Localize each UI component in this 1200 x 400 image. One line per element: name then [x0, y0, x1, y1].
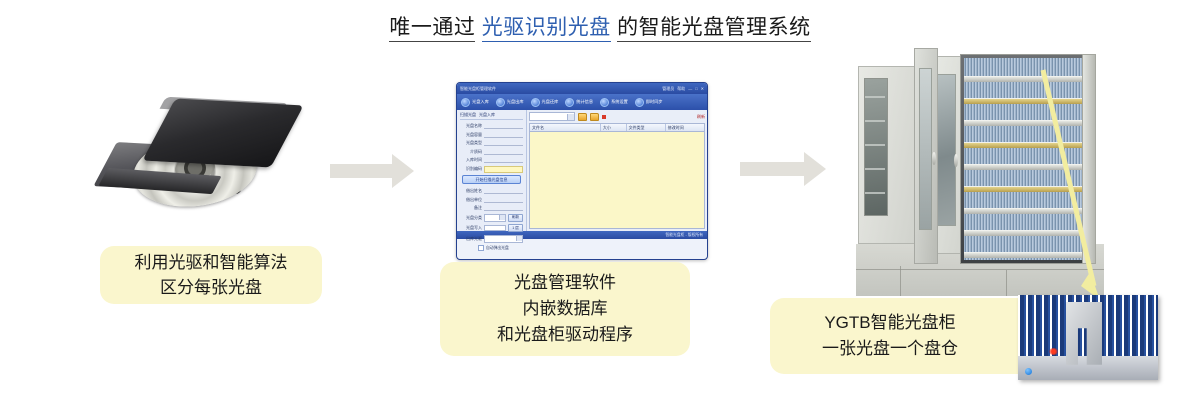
- disc-out-icon: [496, 98, 505, 107]
- caption-box-software: 光盘管理软件 内嵌数据库 和光盘柜驱动程序: [440, 262, 690, 356]
- field-input-borrower-org[interactable]: [484, 197, 523, 203]
- adjacent-shelf: [865, 192, 885, 194]
- content-panel: 刷新 文件名 大小 文件类型 修改时间: [527, 110, 707, 231]
- toolbar-label-disc-out: 光盘出库: [507, 99, 524, 105]
- field-input-remark[interactable]: [484, 205, 523, 211]
- field-label-borrower-org: 借出单位: [460, 197, 482, 203]
- window-body: 扫描光盘 光盘入库 光盘名称 光盘容量 光盘类型 介质码: [457, 110, 707, 231]
- arrow-head: [804, 152, 826, 186]
- floor-line-1: [856, 269, 1104, 270]
- field-input-borrower-name[interactable]: [484, 188, 523, 194]
- field-input-disc-name[interactable]: [484, 123, 523, 129]
- file-list-area[interactable]: [529, 131, 705, 229]
- write-progress-bar: [484, 225, 506, 231]
- toolbar-button-disc-return[interactable]: 光盘还库: [531, 98, 559, 107]
- floor-line-3: [1006, 270, 1007, 296]
- door-handle: [954, 154, 958, 167]
- field-label-media-code: 介质码: [460, 149, 482, 155]
- toolbar-label-stats: 统计信息: [576, 99, 593, 105]
- field-label-write-progress: 光盘写入: [460, 225, 482, 231]
- chevron-down-icon: [516, 236, 522, 241]
- tab-disc-in[interactable]: 光盘入库: [479, 112, 495, 118]
- field-recognition-code[interactable]: 识别编码: [460, 166, 523, 173]
- laser-dot-icon: [1049, 348, 1058, 355]
- disc-rack: [960, 54, 1090, 264]
- open-door-handle: [932, 152, 936, 165]
- left-panel-tabs[interactable]: 扫描光盘 光盘入库: [460, 112, 523, 120]
- caption-line: 区分每张光盘: [135, 275, 288, 300]
- field-remark[interactable]: 备注: [460, 205, 523, 211]
- field-label-disc-capacity: 光盘容量: [460, 132, 482, 138]
- window-title: 智能光盘柜管理软件: [460, 86, 496, 92]
- sync-icon: [635, 98, 644, 107]
- optical-drive-photo: [95, 100, 305, 220]
- field-label-disc-type: 光盘类型: [460, 140, 482, 146]
- field-label-disc-category: 光盘分类: [460, 215, 482, 221]
- adjacent-shelf: [865, 144, 885, 146]
- layer-stepper[interactable]: 1 层: [508, 224, 523, 232]
- adjacent-shelf: [865, 120, 885, 122]
- field-label-disc-name: 光盘名称: [460, 123, 482, 129]
- field-input-in-time[interactable]: [484, 157, 523, 163]
- drive-path-select[interactable]: [529, 112, 575, 121]
- field-input-media-code[interactable]: [484, 149, 523, 155]
- refresh-category-button[interactable]: 刷新: [508, 214, 523, 222]
- scan-disc-button-label: 开始扫描光盘信息: [476, 177, 508, 183]
- floor-line-2: [900, 266, 901, 296]
- page-title-accent: 光驱识别光盘: [482, 16, 611, 42]
- toolbar-button-stats[interactable]: 统计信息: [565, 98, 593, 107]
- left-panel: 扫描光盘 光盘入库 光盘名称 光盘容量 光盘类型 介质码: [457, 110, 527, 231]
- column-modified[interactable]: 修改时间: [666, 124, 704, 131]
- caption-box-drive: 利用光驱和智能算法 区分每张光盘: [100, 246, 322, 304]
- disc-in-icon: [461, 98, 470, 107]
- caption-line: YGTB智能光盘柜: [822, 310, 958, 336]
- window-close-button[interactable]: ✕: [701, 86, 704, 91]
- caption-box-cabinet: YGTB智能光盘柜 一张光盘一个盘仓: [770, 298, 1060, 374]
- field-input-disc-type[interactable]: [484, 140, 523, 146]
- toolbar-label-sync: 即时同步: [646, 99, 663, 105]
- page-title-lead: 唯一通过: [389, 16, 475, 42]
- slide-canvas: 唯一通过 光驱识别光盘 的智能光盘管理系统 智能光盘柜管理软件 管理员 帮助 —…: [0, 0, 1200, 400]
- toolbar-button-sync[interactable]: 即时同步: [635, 98, 663, 107]
- cabinet-right-post: [1082, 54, 1096, 264]
- column-size[interactable]: 大小: [601, 124, 627, 131]
- field-label-recognition-code: 识别编码: [460, 166, 482, 172]
- stats-icon: [565, 98, 574, 107]
- shelf-rail-gold: [964, 186, 1086, 192]
- file-list-header[interactable]: 文件名 大小 文件类型 修改时间: [529, 123, 705, 131]
- field-out-drive[interactable]: 出库光驱: [460, 235, 523, 243]
- adjacent-shelf: [865, 96, 885, 98]
- toolbar-button-disc-out[interactable]: 光盘出库: [496, 98, 524, 107]
- column-filetype[interactable]: 文件类型: [627, 124, 666, 131]
- shelf-rail: [964, 120, 1086, 126]
- stop-icon[interactable]: [602, 115, 606, 119]
- software-window[interactable]: 智能光盘柜管理软件 管理员 帮助 — □ ✕ 光盘入库 光盘出库 光盘还库: [456, 82, 708, 260]
- open-folder-icon[interactable]: [578, 113, 587, 121]
- column-filename[interactable]: 文件名: [530, 124, 601, 131]
- window-titlebar[interactable]: 智能光盘柜管理软件 管理员 帮助 — □ ✕: [457, 83, 707, 94]
- adjacent-cabinet-glass: [864, 78, 888, 216]
- auto-eject-checkbox[interactable]: 自动弹出光盘: [478, 245, 523, 251]
- caption-text-drive: 利用光驱和智能算法 区分每张光盘: [135, 250, 288, 300]
- page-title: 唯一通过 光驱识别光盘 的智能光盘管理系统: [0, 14, 1200, 42]
- toolbar-label-disc-return: 光盘还库: [542, 99, 559, 105]
- shelf-rail: [964, 76, 1086, 82]
- flow-arrow-1: [330, 154, 420, 188]
- adjacent-shelf: [865, 168, 885, 170]
- refresh-link[interactable]: 刷新: [697, 114, 705, 120]
- arrow-shaft: [330, 164, 392, 178]
- field-disc-name[interactable]: 光盘名称: [460, 123, 523, 129]
- chevron-down-icon: [499, 215, 505, 220]
- scan-disc-button[interactable]: 开始扫描光盘信息: [462, 175, 521, 184]
- field-disc-capacity[interactable]: 光盘容量: [460, 132, 523, 138]
- field-in-time[interactable]: 入库时间: [460, 157, 523, 163]
- disc-return-icon: [531, 98, 540, 107]
- field-label-remark: 备注: [460, 205, 482, 211]
- window-help-button[interactable]: 帮助: [677, 86, 685, 92]
- field-media-code[interactable]: 介质码: [460, 149, 523, 155]
- page-title-tail: 的智能光盘管理系统: [617, 16, 811, 42]
- chevron-down-icon: [567, 114, 574, 120]
- led-indicator-icon: [1025, 368, 1032, 375]
- toolbar-button-settings[interactable]: 系统设置: [600, 98, 628, 107]
- auto-eject-label: 自动弹出光盘: [486, 246, 509, 251]
- arrow-head: [392, 154, 414, 188]
- shelf-rail: [964, 230, 1086, 236]
- arrow-shaft: [740, 162, 804, 176]
- field-disc-category[interactable]: 光盘分类 刷新: [460, 214, 523, 222]
- shelf-rail: [964, 164, 1086, 170]
- field-input-disc-capacity[interactable]: [484, 132, 523, 138]
- disc-rack-inner: [964, 58, 1086, 260]
- field-disc-write-progress: 光盘写入 1 层: [460, 224, 523, 232]
- path-toolbar[interactable]: 刷新: [529, 112, 705, 121]
- shelf-rail-gold: [964, 98, 1086, 104]
- field-borrower-org[interactable]: 借出单位: [460, 197, 523, 203]
- shelf-rail: [964, 252, 1086, 258]
- caption-line: 内嵌数据库: [497, 296, 633, 322]
- window-minimize-button[interactable]: —: [688, 86, 692, 91]
- statusbar-text: 智能光盘柜 - 版权所有: [665, 233, 703, 238]
- disc-category-select[interactable]: [484, 214, 506, 222]
- gear-icon: [600, 98, 609, 107]
- caption-text-software: 光盘管理软件 内嵌数据库 和光盘柜驱动程序: [497, 270, 633, 348]
- tab-scan-disc[interactable]: 扫描光盘: [460, 112, 476, 118]
- shelf-rail: [964, 208, 1086, 214]
- cabinet-door-open-glass: [919, 68, 932, 230]
- field-borrower-name[interactable]: 借出姓名: [460, 188, 523, 194]
- shelf-rail-gold: [964, 142, 1086, 148]
- field-label-borrower-name: 借出姓名: [460, 188, 482, 194]
- new-folder-icon[interactable]: [590, 113, 599, 121]
- slot-detail-inset: [1018, 295, 1158, 380]
- caption-line: 一张光盘一个盘仓: [822, 336, 958, 362]
- window-toolbar[interactable]: 光盘入库 光盘出库 光盘还库 统计信息 系统设置 即时同步: [457, 94, 707, 110]
- field-input-recognition-code[interactable]: [484, 166, 523, 173]
- field-label-in-time: 入库时间: [460, 157, 482, 163]
- disc-cabinet-photo: [856, 48, 1104, 296]
- field-label-out-drive: 出库光驱: [460, 236, 482, 242]
- toolbar-label-disc-in: 光盘入库: [472, 99, 489, 105]
- checkbox-box[interactable]: [478, 245, 484, 251]
- out-drive-select[interactable]: [484, 235, 523, 243]
- caption-line: 利用光驱和智能算法: [135, 250, 288, 275]
- caption-line: 和光盘柜驱动程序: [497, 322, 633, 348]
- flow-arrow-2: [740, 152, 832, 186]
- toolbar-label-settings: 系统设置: [611, 99, 628, 105]
- toolbar-button-disc-in[interactable]: 光盘入库: [461, 98, 489, 107]
- field-disc-type[interactable]: 光盘类型: [460, 140, 523, 146]
- caption-line: 光盘管理软件: [497, 270, 633, 296]
- window-maximize-button[interactable]: □: [695, 86, 697, 91]
- window-user-label: 管理员: [662, 86, 674, 92]
- caption-text-cabinet: YGTB智能光盘柜 一张光盘一个盘仓: [822, 310, 958, 362]
